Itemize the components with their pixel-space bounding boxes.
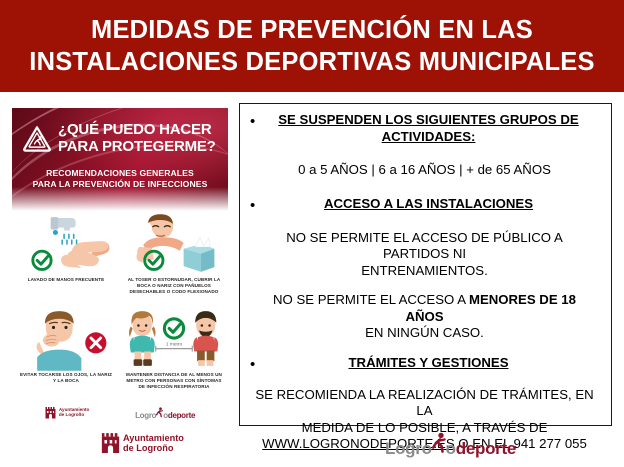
notice-section-2-body-1: NO SE PERMITE EL ACCESO DE PÚBLICO A PAR… — [250, 230, 599, 280]
handwashing-icon — [16, 211, 116, 277]
notice-minors-prefix: NO SE PERMITE EL ACCESO A — [273, 292, 469, 307]
notice-section-1-body: 0 a 5 AÑOS | 6 a 16 AÑOS | + de 65 AÑOS — [250, 162, 599, 179]
poster-gradient-header: ¿QUÉ PUEDO HACER PARA PROTEGERME? RECOME… — [12, 108, 228, 213]
touching-face-illustration — [16, 306, 116, 372]
notice-section-1-heading-line-2: ACTIVIDADES: — [266, 129, 591, 146]
poster-title-line-2: PARA PROTEGERME? — [58, 139, 216, 156]
logronodeporte-logo-small: Logro o deporte — [135, 407, 195, 420]
poster-title: ¿QUÉ PUEDO HACER PARA PROTEGERME? — [58, 122, 216, 155]
ayuntamiento-logo-text: Ayuntamiento de Logroño — [59, 408, 89, 418]
notice-section-2-body-1-line-2: ENTRENAMIENTOS. — [254, 263, 595, 280]
notice-section-2-body-2: NO SE PERMITE EL ACCESO A MENORES DE 18 … — [250, 292, 599, 342]
ayuntamiento-logo-text: Ayuntamiento de Logroño — [123, 434, 184, 454]
running-figure-icon — [156, 407, 163, 418]
prevention-poster: ¿QUÉ PUEDO HACER PARA PROTEGERME? RECOME… — [12, 108, 228, 426]
social-distance-icon: 1 metro — [124, 306, 224, 372]
panel-caption: MANTENER DISTANCIA DE AL MENOS UN METRO … — [124, 372, 224, 390]
notice-section-3-body-line-1: SE RECOMIENDA LA REALIZACIÓN DE TRÁMITES… — [254, 387, 595, 420]
panel-caption: EVITAR TOCARSE LOS OJOS, LA NARIZ Y LA B… — [16, 372, 116, 384]
notice-section-1-heading-line-1: SE SUSPENDEN LOS SIGUIENTES GRUPOS DE — [266, 112, 591, 129]
panel-social-distance: 1 metro MANTENER DISTANCIA DE AL MENOS U… — [120, 303, 228, 398]
handwashing-illustration — [16, 211, 116, 277]
poster-footer-logos: Ayuntamiento de Logroño Logro o deporte — [12, 400, 228, 426]
logronodeporte-logo-footer: Logro o deporte — [385, 432, 516, 459]
bullet-icon: • — [250, 112, 266, 131]
sneeze-illustration — [124, 211, 224, 277]
page-header-banner: MEDIDAS DE PREVENCIÓN EN LAS INSTALACION… — [0, 0, 624, 92]
tissue-box-icon — [184, 237, 215, 272]
recommendation-panels: LAVADO DE MANOS FRECUENTE — [12, 208, 228, 398]
social-distance-illustration: 1 metro — [124, 306, 224, 372]
logdep-part-1: Logro — [385, 439, 432, 459]
notice-section-1-heading-row: • SE SUSPENDEN LOS SIGUIENTES GRUPOS DE … — [250, 112, 599, 145]
distance-label: 1 metro — [166, 342, 183, 348]
notice-section-3-heading: TRÁMITES Y GESTIONES — [266, 355, 599, 372]
castle-crest-icon — [45, 407, 56, 419]
logdep-part-3: deporte — [168, 411, 195, 420]
panel-handwashing: LAVADO DE MANOS FRECUENTE — [12, 208, 120, 303]
panel-avoid-touching-face: EVITAR TOCARSE LOS OJOS, LA NARIZ Y LA B… — [12, 303, 120, 398]
notice-section-2-body-2-line-2: EN NINGÚN CASO. — [254, 325, 595, 342]
notice-section-1-heading: SE SUSPENDEN LOS SIGUIENTES GRUPOS DE AC… — [266, 112, 599, 145]
notice-section-2-body-1-line-1: NO SE PERMITE EL ACCESO DE PÚBLICO A PAR… — [254, 230, 595, 263]
running-figure-icon — [432, 432, 446, 454]
bullet-icon: • — [250, 196, 266, 215]
panel-cough-etiquette: AL TOSER O ESTORNUDAR, CUBRIR LA BOCA O … — [120, 208, 228, 303]
shield-runner-icon — [22, 125, 52, 153]
sneeze-into-elbow-icon — [124, 211, 224, 277]
ayuntamiento-line-2: de Logroño — [59, 413, 89, 418]
poster-title-row: ¿QUÉ PUEDO HACER PARA PROTEGERME? — [12, 122, 228, 155]
ayuntamiento-line-1: Ayuntamiento — [123, 434, 184, 444]
poster-subtitle-line-1: RECOMENDACIONES GENERALES — [12, 168, 228, 179]
logdep-part-3: deporte — [456, 439, 516, 459]
poster-title-line-1: ¿QUÉ PUEDO HACER — [58, 122, 216, 139]
panel-caption: LAVADO DE MANOS FRECUENTE — [16, 277, 116, 283]
ayuntamiento-logo-small: Ayuntamiento de Logroño — [45, 407, 89, 419]
notice-panel: • SE SUSPENDEN LOS SIGUIENTES GRUPOS DE … — [239, 103, 612, 426]
notice-section-2-body-2-line-1: NO SE PERMITE EL ACCESO A MENORES DE 18 … — [254, 292, 595, 325]
logdep-part-2: o — [446, 439, 456, 459]
touching-face-icon — [16, 306, 116, 372]
header-title-line-1: MEDIDAS DE PREVENCIÓN EN LAS — [91, 14, 533, 46]
notice-section-2-heading: ACCESO A LAS INSTALACIONES — [266, 196, 599, 213]
bullet-icon: • — [250, 355, 266, 374]
header-title-line-2: INSTALACIONES DEPORTIVAS MUNICIPALES — [29, 46, 594, 78]
notice-section-3-heading-row: • TRÁMITES Y GESTIONES — [250, 355, 599, 374]
notice-section-2-heading-row: • ACCESO A LAS INSTALACIONES — [250, 196, 599, 215]
ayuntamiento-logo-footer: Ayuntamiento de Logroño — [101, 433, 184, 454]
castle-crest-icon — [101, 433, 120, 454]
logdep-part-1: Logro — [135, 411, 156, 420]
panel-caption: AL TOSER O ESTORNUDAR, CUBRIR LA BOCA O … — [124, 277, 224, 295]
ayuntamiento-line-2: de Logroño — [123, 444, 184, 454]
